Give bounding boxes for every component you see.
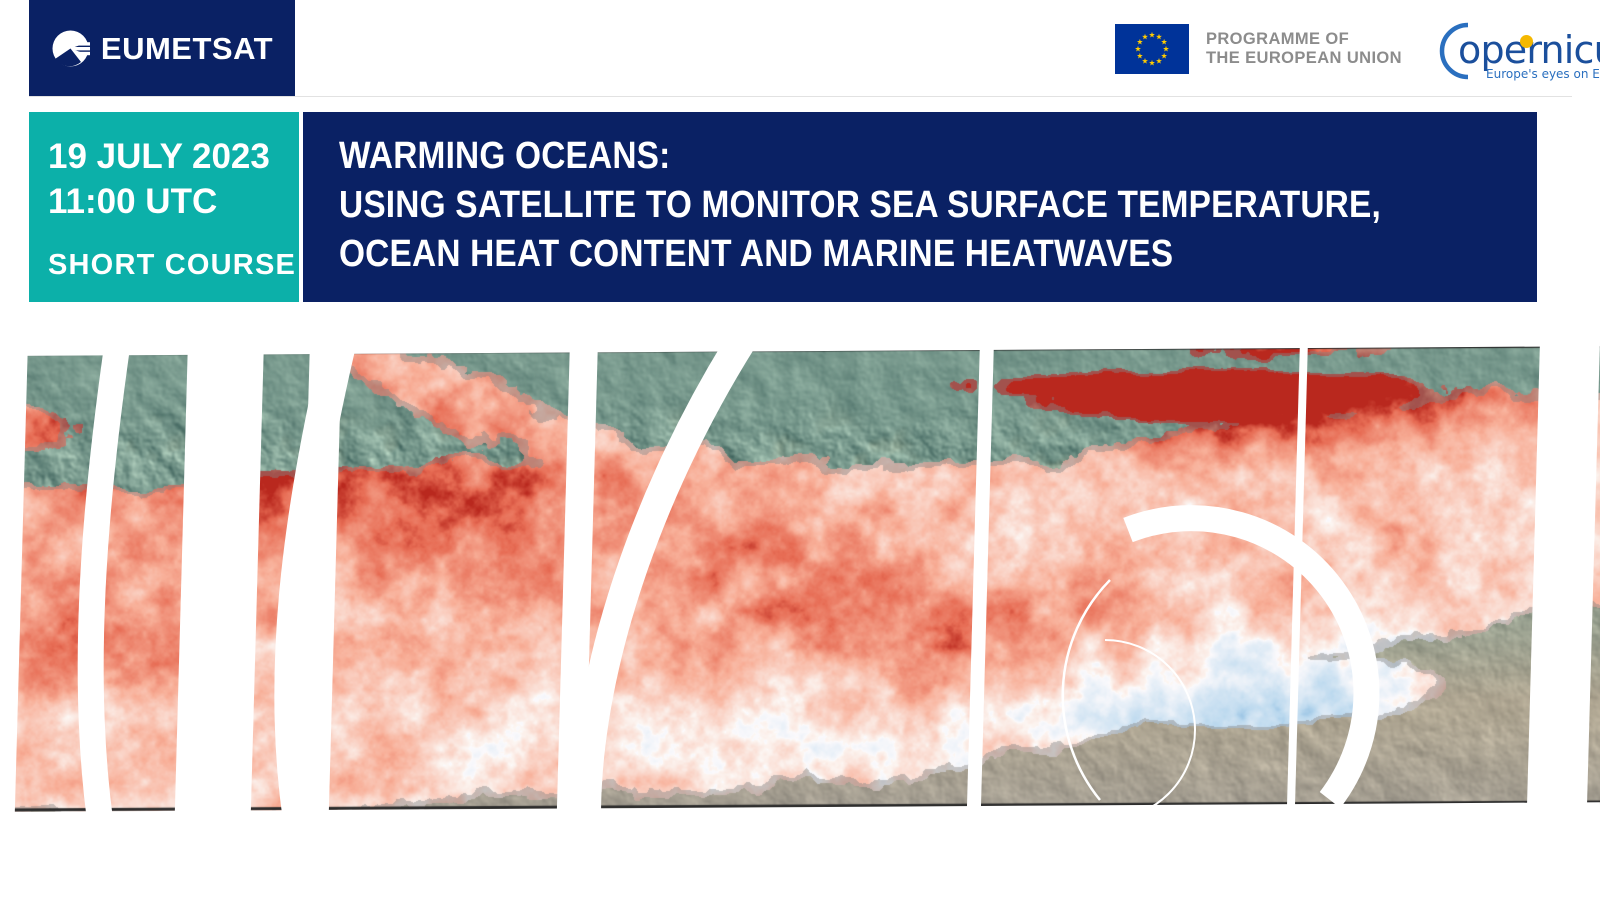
copernicus-tagline: Europe's eyes on Earth (1486, 67, 1600, 81)
event-time: 11:00 UTC (48, 179, 217, 224)
eumetsat-logo[interactable]: EUMETSAT (51, 29, 273, 68)
event-date: 19 JULY 2023 (48, 134, 270, 179)
event-title-block: WARMING OCEANS: USING SATELLITE TO MONIT… (303, 112, 1537, 302)
eumetsat-wordmark: EUMETSAT (101, 33, 273, 64)
eu-programme-text: PROGRAMME OF THE EUROPEAN UNION (1206, 30, 1402, 68)
event-banner: 19 JULY 2023 11:00 UTC SHORT COURSE WARM… (0, 112, 1600, 302)
copernicus-logo[interactable]: opernicus Europe's eyes on Earth (1424, 17, 1582, 81)
header-divider (29, 96, 1572, 97)
event-type-label: SHORT COURSE (48, 248, 296, 282)
hero-map (0, 340, 1600, 820)
european-union-logo[interactable]: PROGRAMME OF THE EUROPEAN UNION (1115, 24, 1402, 74)
eumetsat-logo-block[interactable]: EUMETSAT (29, 0, 295, 97)
european-union-flag-icon (1115, 24, 1189, 74)
event-date-block: 19 JULY 2023 11:00 UTC SHORT COURSE (29, 112, 299, 302)
event-title-line-1: WARMING OCEANS: (339, 136, 670, 176)
event-title-line-3: OCEAN HEAT CONTENT AND MARINE HEATWAVES (339, 234, 1173, 274)
top-bar: EUMETSAT PROGRAMME OF THE EUROPEAN UNION (0, 0, 1600, 97)
brand-arc-overlay (0, 340, 1600, 820)
eu-programme-line1: PROGRAMME OF (1206, 30, 1349, 48)
copernicus-dot-icon (1520, 35, 1533, 48)
eumetsat-satellite-icon (51, 29, 90, 68)
eu-programme-line2: THE EUROPEAN UNION (1206, 49, 1402, 67)
partner-logos: PROGRAMME OF THE EUROPEAN UNION opernicu… (1115, 0, 1582, 97)
event-title-line-2: USING SATELLITE TO MONITOR SEA SURFACE T… (339, 185, 1381, 225)
